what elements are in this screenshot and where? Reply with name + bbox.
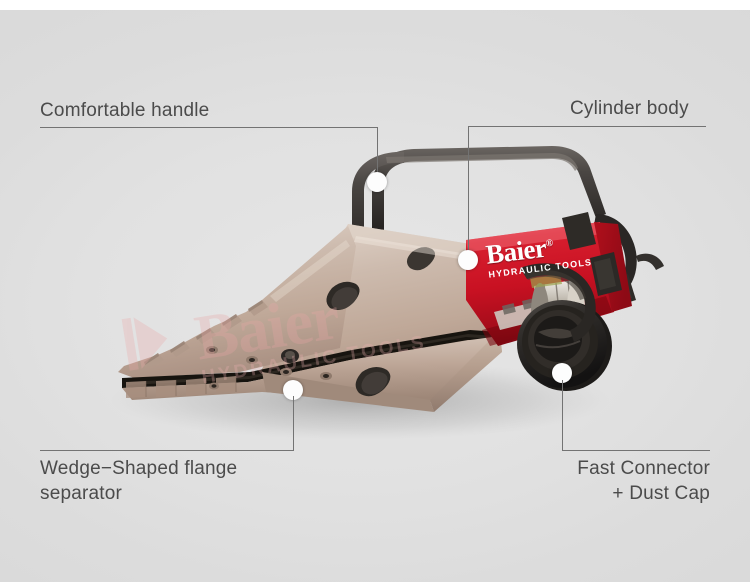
callout-leader-v-fast-connector — [562, 380, 563, 450]
callout-leader-h-wedge-separator — [40, 450, 294, 451]
product-feature-image: Baier HYDRAULIC TOOLS Baier® HYDRAULIC T… — [0, 0, 750, 582]
callout-leader-v-wedge-separator — [293, 396, 294, 450]
callout-dot-comfortable-handle — [367, 172, 387, 192]
callout-leader-v-cylinder-body — [468, 126, 469, 256]
callout-label-wedge-separator: Wedge−Shaped flange separator — [40, 456, 340, 506]
callout-leader-h-fast-connector — [562, 450, 710, 451]
callout-label-comfortable-handle: Comfortable handle — [40, 98, 340, 123]
callout-leader-h-cylinder-body — [468, 126, 706, 127]
callout-leader-h-comfortable-handle — [40, 127, 378, 128]
callout-label-fast-connector: Fast Connector + Dust Cap — [470, 456, 710, 506]
callout-label-cylinder-body: Cylinder body — [570, 96, 750, 121]
callout-dot-cylinder-body — [458, 250, 478, 270]
